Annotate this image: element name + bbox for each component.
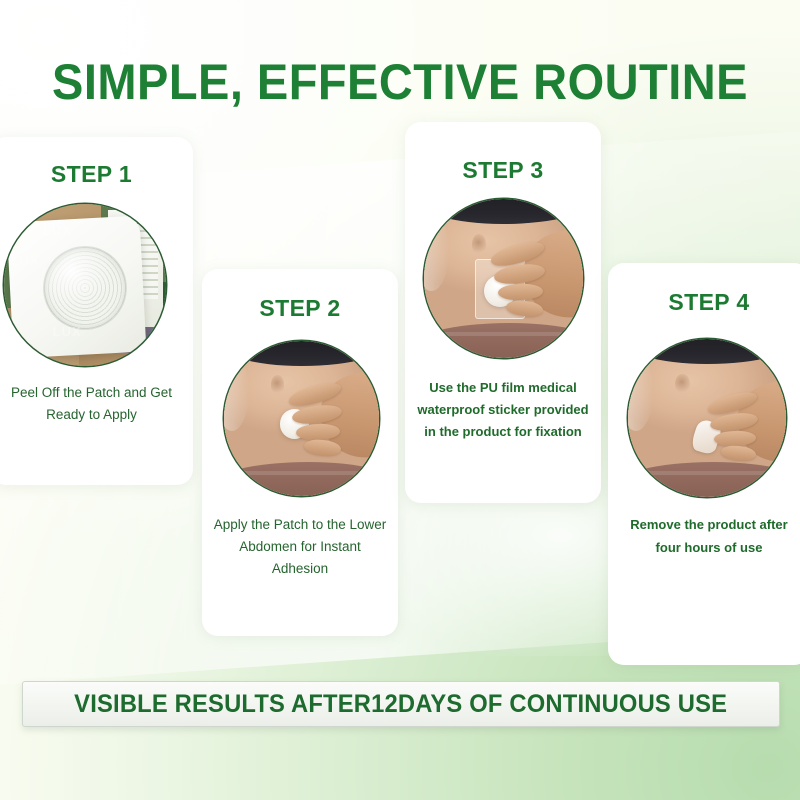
- watermark-text: LUX: [53, 324, 82, 339]
- promo-page: SIMPLE, EFFECTIVE ROUTINE STEP 1 LUX LUX…: [0, 0, 800, 800]
- step-3-photo: [424, 199, 583, 358]
- step-card-3: STEP 3 Use the PU film medical water: [405, 122, 601, 503]
- hand-graphic: [710, 367, 786, 474]
- step-4-photo: [628, 339, 786, 497]
- results-banner-text: VISIBLE RESULTS AFTER12DAYS OF CONTINUOU…: [75, 690, 728, 719]
- hand-graphic: [494, 215, 583, 333]
- step-3-title: STEP 3: [405, 157, 601, 184]
- step-2-photo: [224, 341, 379, 496]
- step-2-title: STEP 2: [202, 295, 398, 322]
- step-card-4: STEP 4 Remove the product after four hou…: [608, 263, 800, 665]
- watermark-text: LUX: [10, 253, 39, 268]
- hand-graphic: [292, 357, 379, 472]
- step-card-1: STEP 1 LUX LUX LUX Peel Off the Patch an…: [0, 137, 193, 485]
- step-1-caption: Peel Off the Patch and Get Ready to Appl…: [0, 382, 185, 426]
- step-2-caption: Apply the Patch to the Lower Abdomen for…: [210, 514, 390, 580]
- step-4-title: STEP 4: [608, 289, 800, 316]
- step-4-caption: Remove the product after four hours of u…: [616, 513, 800, 559]
- step-1-title: STEP 1: [0, 161, 193, 188]
- watermark-text: LUX: [43, 223, 72, 238]
- step-3-caption: Use the PU film medical waterproof stick…: [413, 377, 593, 442]
- patch-disc-icon: [43, 246, 127, 330]
- step-card-2: STEP 2 Apply the Patch to the Lower Abdo…: [202, 269, 398, 636]
- page-title: SIMPLE, EFFECTIVE ROUTINE: [24, 56, 776, 109]
- results-banner: VISIBLE RESULTS AFTER12DAYS OF CONTINUOU…: [22, 681, 780, 727]
- step-1-photo: LUX LUX LUX: [4, 204, 166, 366]
